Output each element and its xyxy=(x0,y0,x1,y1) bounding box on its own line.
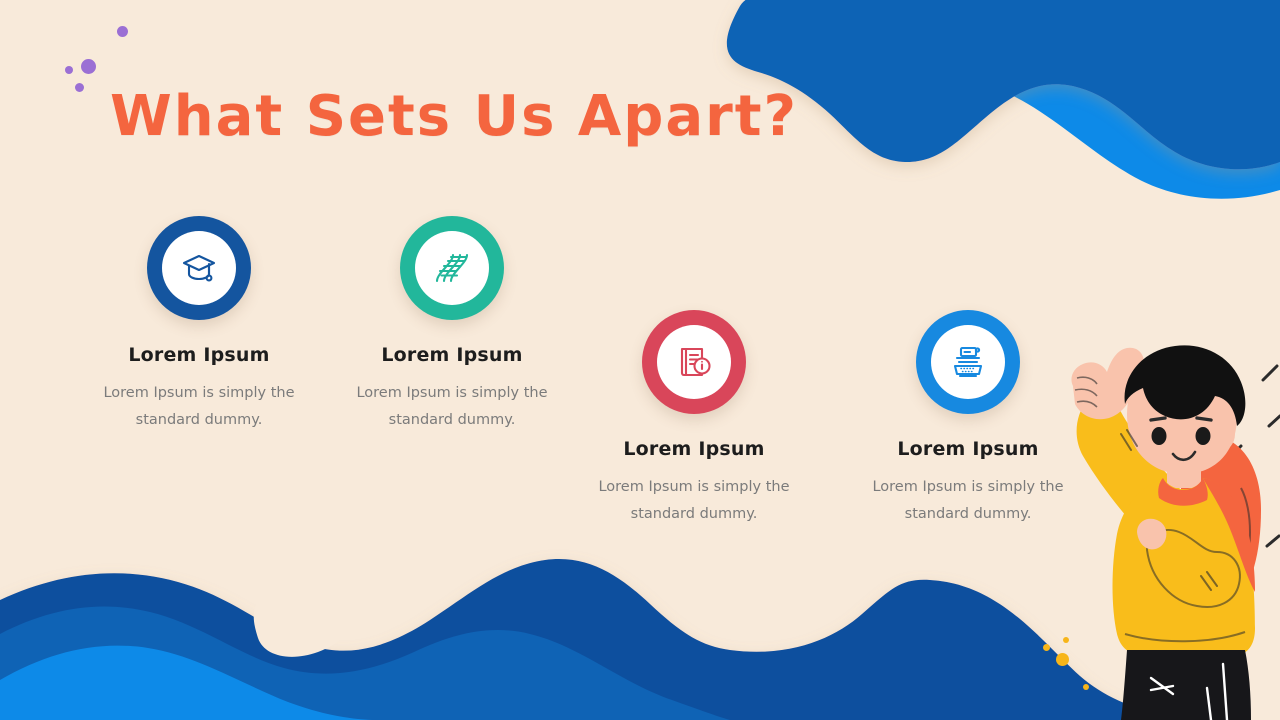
pants xyxy=(1121,650,1251,720)
wave-bottom-dark-navy xyxy=(0,559,1200,720)
decor-dot-purple-3 xyxy=(65,66,73,74)
book-info-icon xyxy=(674,342,714,382)
feature-icon-ring[interactable] xyxy=(642,310,746,414)
feature-icon-ring[interactable] xyxy=(147,216,251,320)
feature-icon-disc xyxy=(162,231,236,305)
slide-canvas: What Sets Us Apart? Lorem Ipsum Lorem Ip… xyxy=(0,0,1280,720)
wave-cutout-eye xyxy=(254,588,356,657)
decor-dot-yellow-1 xyxy=(1043,644,1050,651)
decor-dot-purple-2 xyxy=(81,59,96,74)
neck xyxy=(1167,468,1201,488)
typewriter-icon xyxy=(948,342,988,382)
feature-description: Lorem Ipsum is simply the standard dummy… xyxy=(843,474,1093,528)
feature-title: Lorem Ipsum xyxy=(74,344,324,366)
wave-bottom-bright-blue xyxy=(0,646,372,720)
graduation-cap-icon xyxy=(179,248,219,288)
feature-item[interactable]: Lorem Ipsum Lorem Ipsum is simply the st… xyxy=(569,310,819,528)
feature-icon-ring[interactable] xyxy=(400,216,504,320)
decor-dot-purple-4 xyxy=(75,83,84,92)
decor-dot-purple-1 xyxy=(117,26,128,37)
feature-description: Lorem Ipsum is simply the standard dummy… xyxy=(327,380,577,434)
feature-icon-ring[interactable] xyxy=(916,310,1020,414)
eye-right xyxy=(1196,427,1211,445)
feature-title: Lorem Ipsum xyxy=(843,438,1093,460)
feature-item[interactable]: Lorem Ipsum Lorem Ipsum is simply the st… xyxy=(74,216,324,434)
feature-icon-disc xyxy=(415,231,489,305)
wave-top-light-blue xyxy=(790,0,1280,199)
dna-helix-icon xyxy=(432,248,472,288)
wave-bottom-mid-blue xyxy=(0,607,730,720)
page-title: What Sets Us Apart? xyxy=(110,86,798,148)
eye-left xyxy=(1152,427,1167,445)
feature-item[interactable]: Lorem Ipsum Lorem Ipsum is simply the st… xyxy=(327,216,577,434)
feature-description: Lorem Ipsum is simply the standard dummy… xyxy=(569,474,819,528)
wave-top-dark-blue xyxy=(727,0,1280,169)
feature-title: Lorem Ipsum xyxy=(569,438,819,460)
feature-icon-disc xyxy=(657,325,731,399)
dashed-curve-decoration xyxy=(1130,0,1280,87)
feature-icon-disc xyxy=(931,325,1005,399)
feature-description: Lorem Ipsum is simply the standard dummy… xyxy=(74,380,324,434)
feature-title: Lorem Ipsum xyxy=(327,344,577,366)
feature-item[interactable]: Lorem Ipsum Lorem Ipsum is simply the st… xyxy=(843,310,1093,528)
